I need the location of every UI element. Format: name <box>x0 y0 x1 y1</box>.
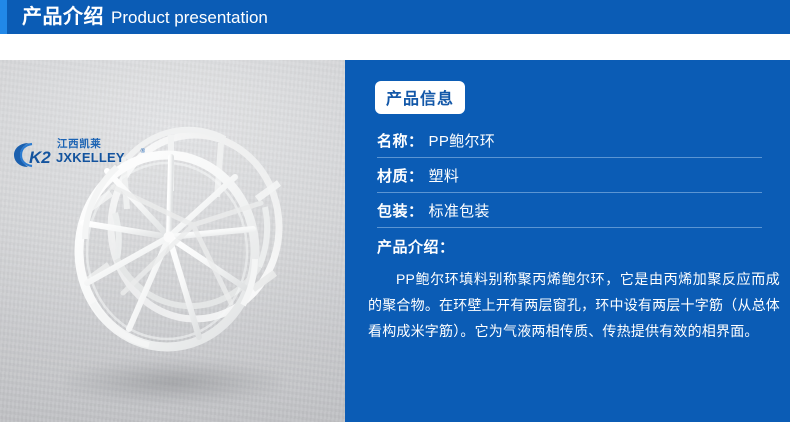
spec-label: 名称： <box>377 130 424 151</box>
product-presentation-page: 产品介绍 Product presentation <box>0 0 790 422</box>
page-title-en: Product presentation <box>111 1 268 35</box>
spec-label: 材质： <box>377 165 424 186</box>
product-image: K2 江西凯莱 JXKELLEY ® <box>0 60 345 422</box>
page-header: 产品介绍 Product presentation <box>0 0 790 34</box>
product-info-badge: 产品信息 <box>375 81 465 114</box>
spec-value: PP鲍尔环 <box>429 130 496 151</box>
spec-row: 名称： PP鲍尔环 <box>377 123 762 158</box>
brand-logo: K2 江西凯莱 JXKELLEY ® <box>12 138 137 172</box>
spec-value: 塑料 <box>429 165 460 186</box>
spec-value: 标准包装 <box>429 200 490 221</box>
svg-text:K2: K2 <box>29 148 51 167</box>
header-title-group: 产品介绍 Product presentation <box>22 0 268 34</box>
logo-name-en: JXKELLEY <box>56 151 140 165</box>
product-info-panel: 产品信息 名称： PP鲍尔环 材质： 塑料 包装： 标准包装 产品介绍： PP鲍… <box>345 60 790 422</box>
header-accent-bar <box>0 0 7 34</box>
registered-trademark-icon: ® <box>141 149 145 155</box>
page-title-cn: 产品介绍 <box>22 0 104 34</box>
product-spec-list: 名称： PP鲍尔环 材质： 塑料 包装： 标准包装 <box>377 123 762 228</box>
logo-swoosh-k2-icon: K2 <box>12 140 58 170</box>
spec-row: 包装： 标准包装 <box>377 193 762 228</box>
spec-label: 包装： <box>377 200 424 221</box>
description-heading: 产品介绍： <box>377 236 455 257</box>
content-area: K2 江西凯莱 JXKELLEY ® 产品信息 名称： PP鲍尔环 材质： 塑 <box>0 60 790 422</box>
logo-wordmark: 江西凯莱 JXKELLEY ® <box>56 138 140 172</box>
spec-row: 材质： 塑料 <box>377 158 762 193</box>
description-body: PP鲍尔环填料别称聚丙烯鲍尔环，它是由丙烯加聚反应而成的聚合物。在环壁上开有两层… <box>368 266 780 344</box>
